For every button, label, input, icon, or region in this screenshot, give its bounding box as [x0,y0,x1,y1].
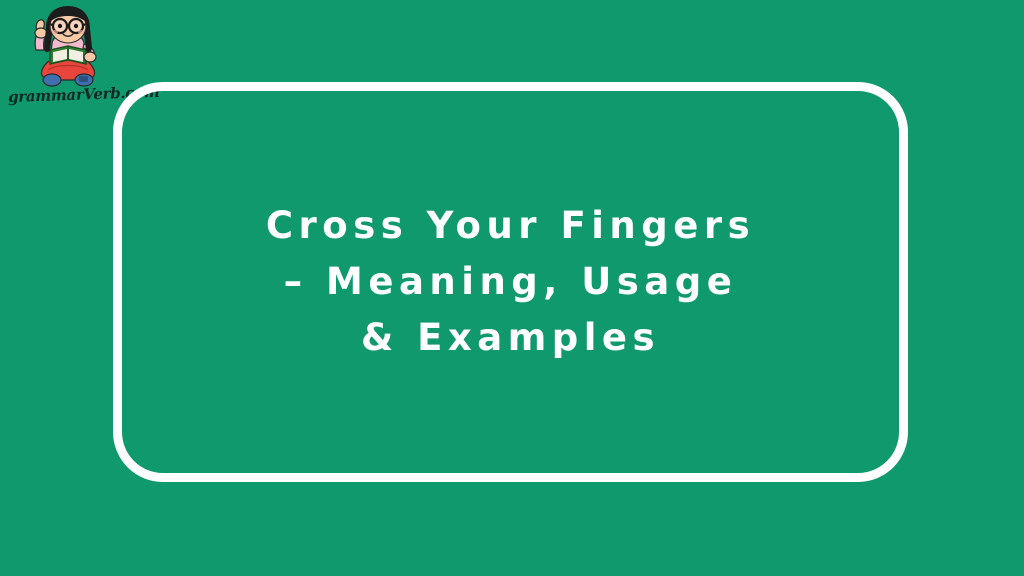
title-line-1: Cross Your Fingers [266,198,755,254]
girl-reading-book-icon [22,4,114,90]
title-line-3: & Examples [361,310,660,366]
title-block: Cross Your Fingers – Meaning, Usage & Ex… [113,82,908,482]
brand-wordmark: grammarVerb.com [8,84,127,106]
brand-logo: grammarVerb.com [8,2,126,112]
thumbnail-canvas: grammarVerb.com Cross Your Fingers – Mea… [0,0,1024,576]
title-line-2: – Meaning, Usage [284,254,738,310]
